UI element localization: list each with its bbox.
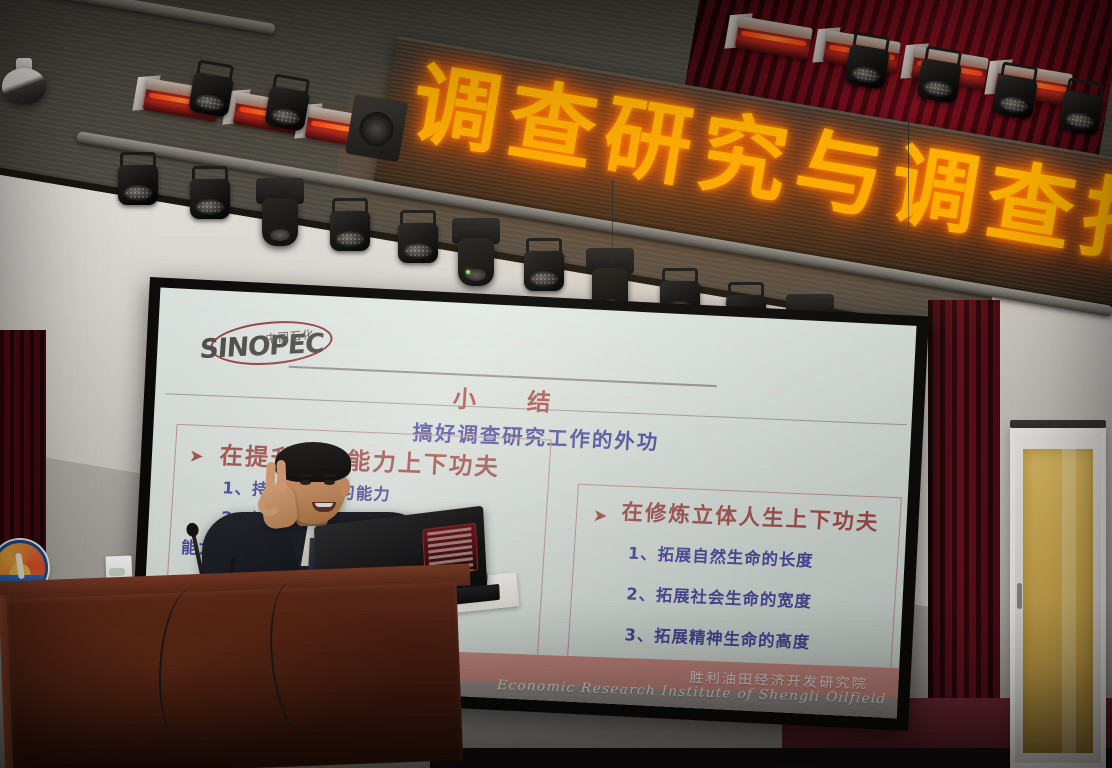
stage-loudspeaker [345, 94, 408, 162]
light-lens [529, 271, 559, 287]
slide-title: 小结 [452, 379, 603, 420]
light-lens [195, 199, 225, 215]
heater-glow [741, 30, 807, 46]
moving-head-2 [452, 218, 500, 288]
door-glass-panel [1023, 449, 1093, 753]
suspension-wire-2 [908, 120, 909, 230]
dome-security-camera-icon [2, 58, 46, 104]
suspension-wire-1 [612, 180, 613, 268]
light-lens [335, 231, 365, 247]
light-body [398, 223, 438, 263]
presenter-brow-left [299, 474, 312, 477]
moving-head-1 [256, 178, 304, 248]
light-head [262, 198, 298, 246]
par-can-5 [524, 238, 564, 292]
light-head [458, 238, 494, 286]
presenter-eye-right [324, 480, 335, 485]
audio-cable-1 [154, 585, 224, 749]
status-led [466, 270, 470, 274]
light-body [264, 86, 310, 132]
bullet-arrow-right-icon: ➤ [592, 506, 608, 527]
lectern [0, 564, 477, 768]
light-body [118, 165, 158, 205]
par-can-3 [330, 198, 370, 252]
par-can-2 [190, 166, 230, 220]
door-handle-icon[interactable] [1017, 583, 1022, 609]
audio-cable-2 [263, 577, 340, 743]
light-body [992, 74, 1038, 120]
door-header-trim [1010, 420, 1106, 428]
lecture-hall-photo: 调查研究与调查报告的撰写 [0, 0, 1112, 768]
presenter-eye-left [300, 480, 311, 485]
light-lens [922, 78, 954, 99]
presenter-finger-2 [276, 460, 286, 492]
light-body [844, 44, 890, 90]
light-lens [123, 185, 153, 201]
light-body [190, 179, 230, 219]
sinopec-logo-icon: SINOPEC 中国石化 [198, 318, 353, 380]
light-lens [403, 243, 433, 259]
presenter-brow-right [323, 474, 336, 477]
light-body [330, 211, 370, 251]
light-body [916, 58, 962, 104]
light-lens [270, 106, 302, 127]
stage-side-door[interactable] [1010, 428, 1106, 768]
light-lens [850, 64, 882, 85]
camera-dome [2, 68, 46, 104]
lectern-front-panel [7, 582, 464, 768]
light-lens [1064, 110, 1096, 131]
presenter-ear-right [340, 478, 350, 496]
light-lens [998, 94, 1030, 115]
par-can-1 [118, 152, 158, 206]
presenter-hair [275, 442, 351, 482]
light-lens [194, 92, 226, 113]
par-can-4 [398, 210, 438, 264]
light-body [1058, 90, 1104, 136]
light-body [524, 251, 564, 291]
light-body [188, 72, 234, 118]
